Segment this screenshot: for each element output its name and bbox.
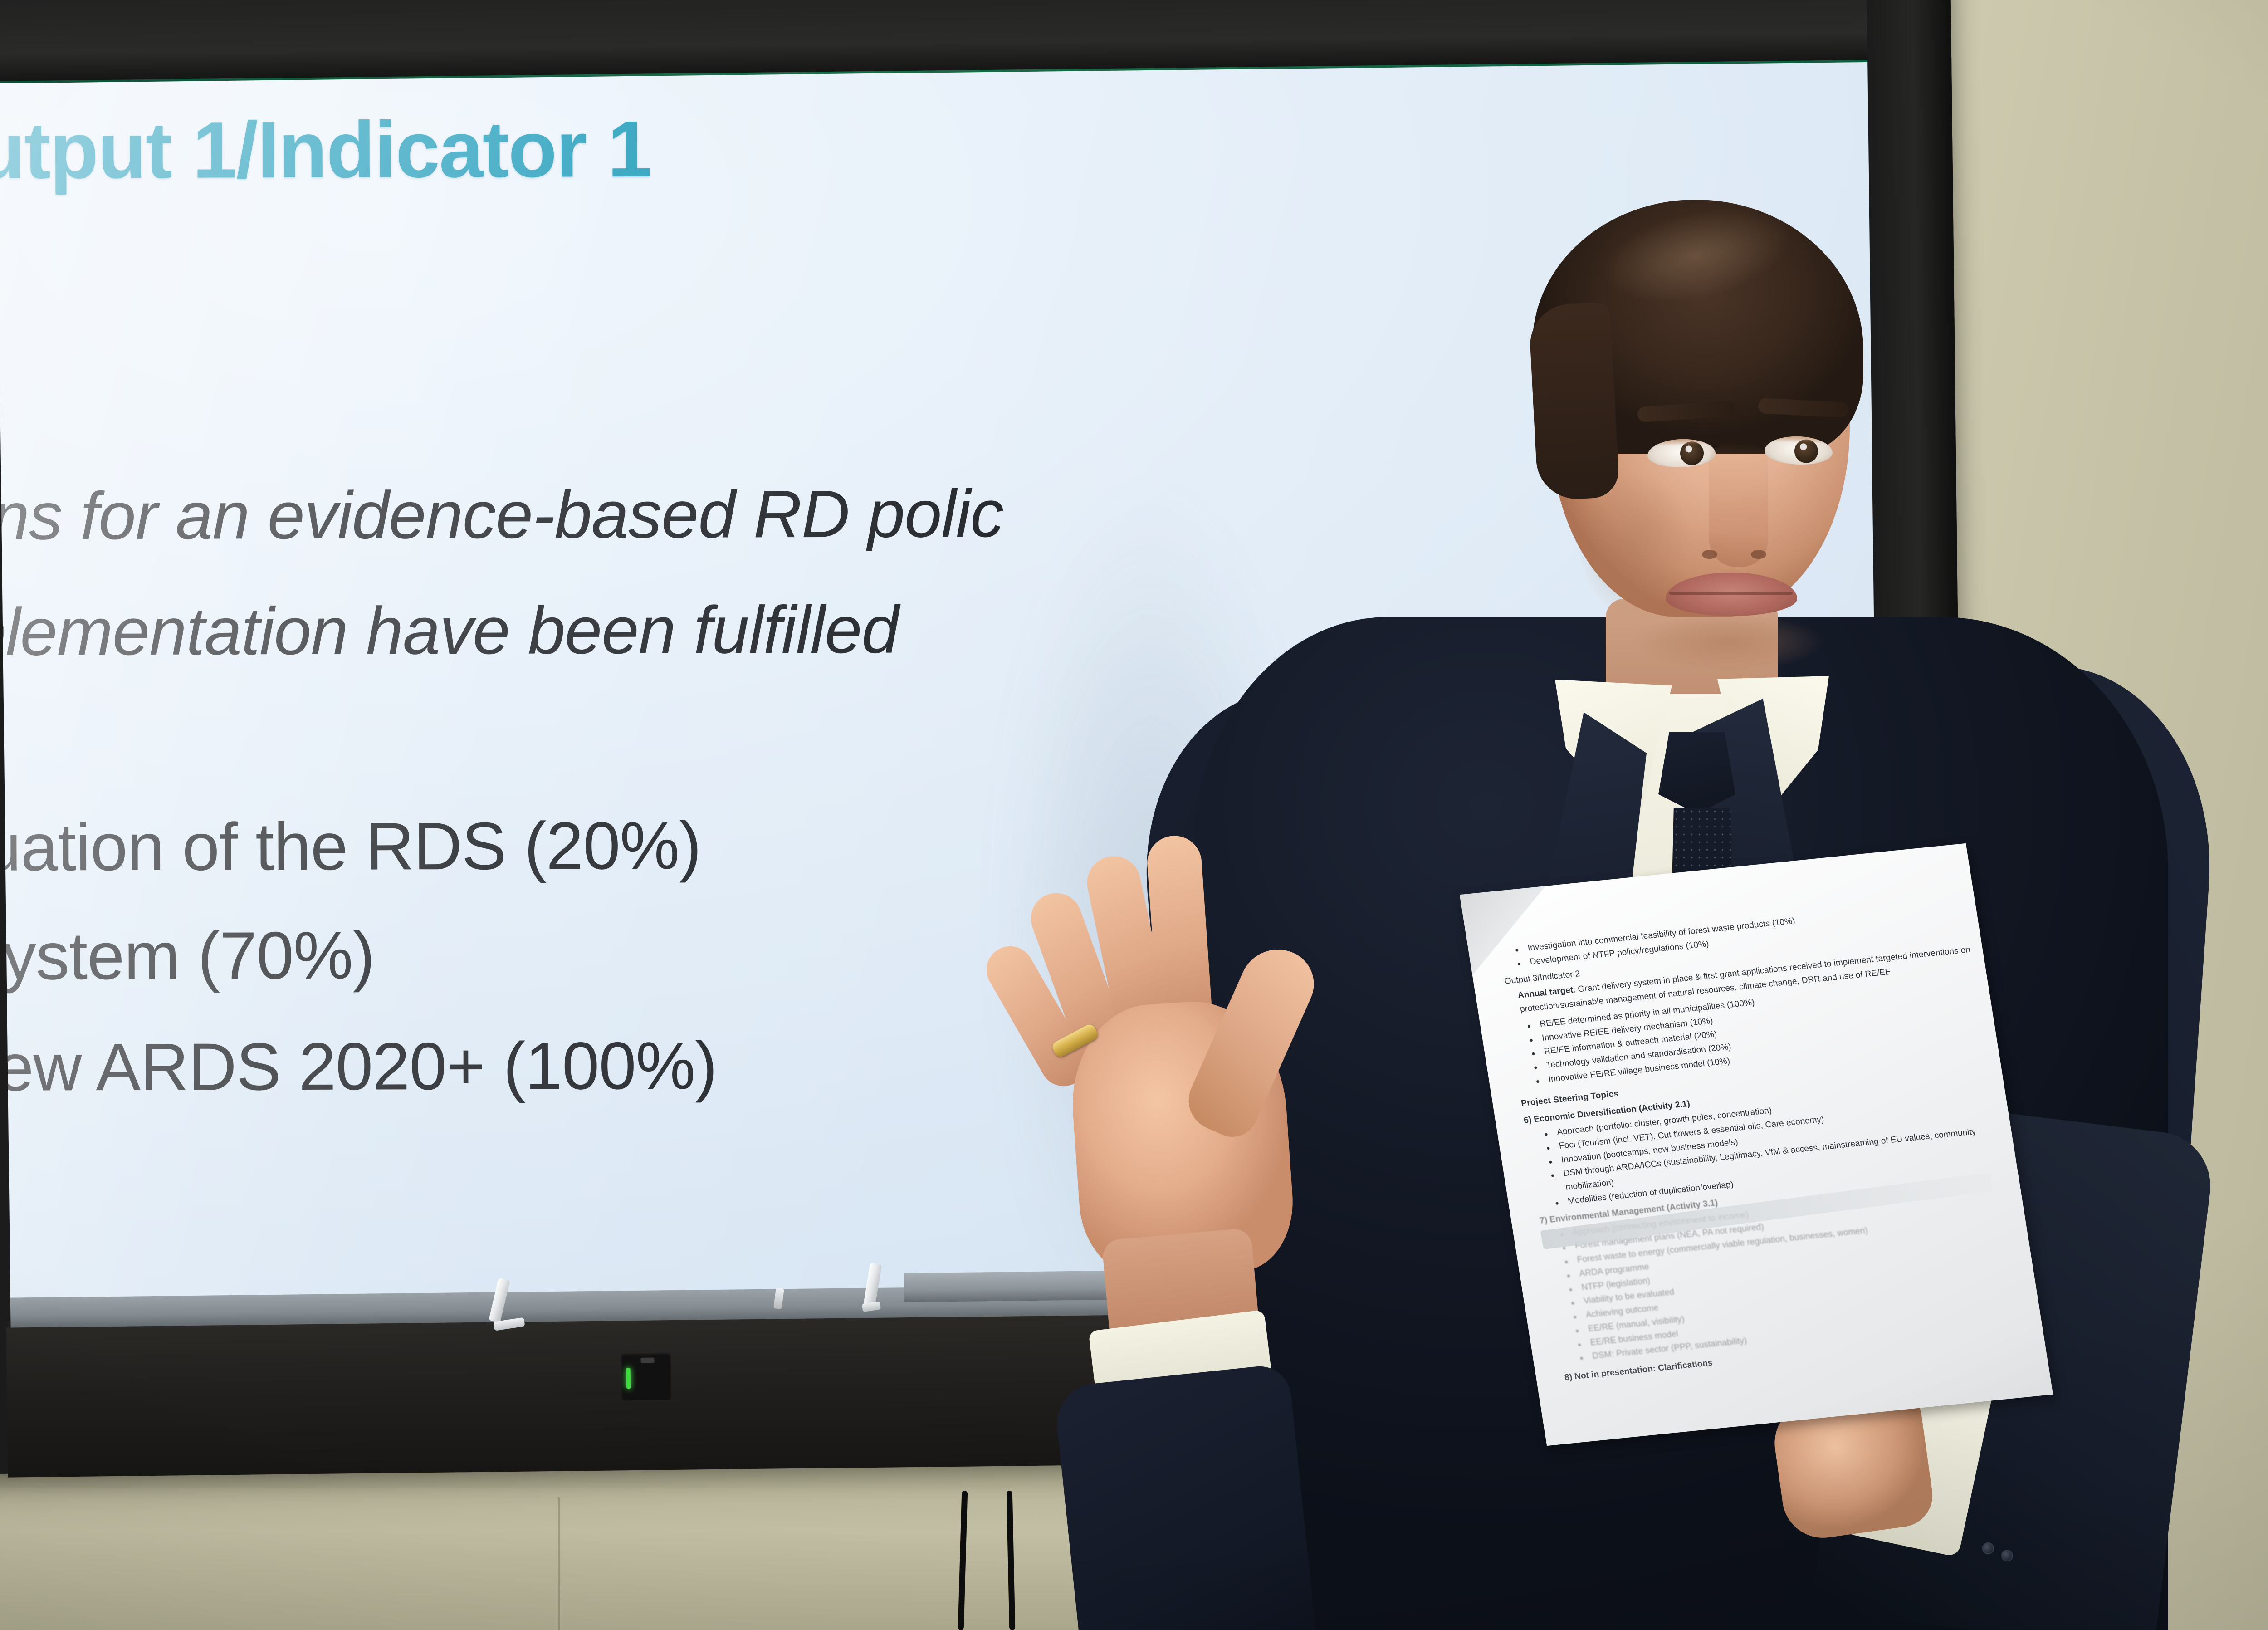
power-led-indicator	[626, 1368, 631, 1389]
sleeve-button-1	[1982, 1542, 1994, 1554]
annual-target-label: Annual target	[1517, 985, 1574, 1000]
slide-line-4: evaluation of the RDS (20%)	[0, 808, 701, 887]
hair-sideburn	[1528, 302, 1620, 501]
wall-panel-seam	[558, 1497, 560, 1630]
presenter: Investigation into commercial feasibilit…	[1043, 109, 2245, 1630]
slide-title: Output 1/Indicator 1	[0, 103, 651, 197]
sensor-window	[640, 1357, 654, 1363]
presentation-scene: Output 1/Indicator 1 uet nditions for an…	[0, 0, 2268, 1630]
lip-line	[1669, 592, 1793, 595]
slide-line-5: &E system (70%)	[0, 917, 375, 996]
slide-line-6: he new ARDS 2020+ (100%)	[0, 1028, 717, 1107]
slide-line-2: nditions for an evidence-based RD polic	[0, 475, 1003, 556]
nostril-right	[1751, 550, 1766, 559]
handout-paper[interactable]: Investigation into commercial feasibilit…	[1460, 843, 2053, 1446]
nose	[1709, 445, 1768, 567]
sleeve-button-2	[2001, 1550, 2013, 1561]
raised-hand	[1002, 808, 1411, 1307]
suit-sleeve-left	[1053, 1363, 1324, 1630]
handout-text: Investigation into commercial feasibilit…	[1460, 843, 2053, 1446]
chin-shading	[1633, 612, 1823, 671]
slide-line-3: d implementation have been fulfilled	[0, 592, 899, 671]
nostril-left	[1702, 550, 1717, 559]
